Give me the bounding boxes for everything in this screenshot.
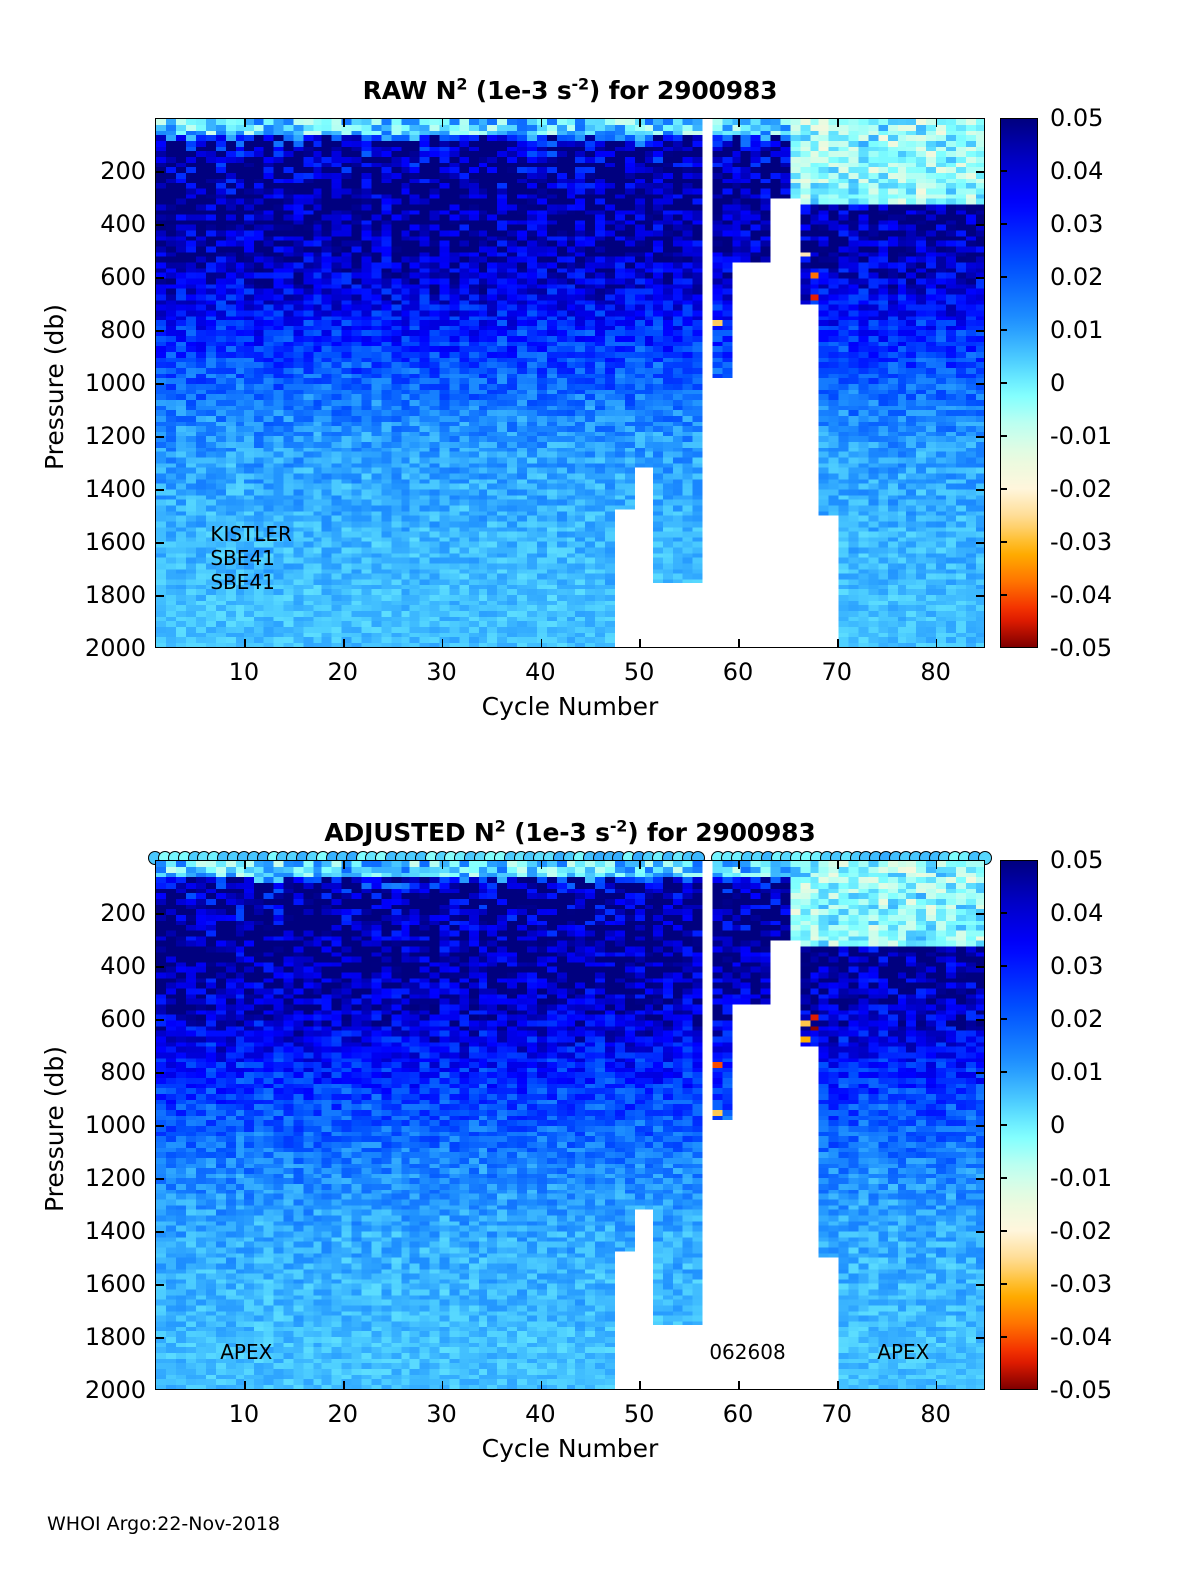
y-tick-label: 600 bbox=[66, 1005, 146, 1033]
colorbar-tick-label: 0.05 bbox=[1050, 104, 1103, 132]
colorbar-tick-label: -0.03 bbox=[1050, 528, 1112, 556]
panel-raw-title-sup2: -2 bbox=[572, 75, 589, 94]
colorbar-tick-label: 0.04 bbox=[1050, 899, 1103, 927]
panel-raw-title-prefix: RAW N bbox=[363, 76, 457, 105]
adjusted-heatmap-canvas bbox=[156, 861, 984, 1389]
panel-adjusted-title-sup2: -2 bbox=[610, 817, 627, 836]
y-tick-mark bbox=[156, 595, 164, 597]
x-tick-mark bbox=[343, 1381, 345, 1389]
x-tick-mark bbox=[541, 861, 543, 869]
plot-annotation: APEX bbox=[220, 1340, 272, 1364]
panel-adjusted-title-suffix: ) for 2900983 bbox=[627, 818, 815, 847]
colorbar-tick-label: -0.05 bbox=[1050, 634, 1112, 662]
y-tick-mark bbox=[976, 595, 984, 597]
x-tick-mark bbox=[639, 861, 641, 869]
colorbar-tick-label: -0.02 bbox=[1050, 1217, 1112, 1245]
y-tick-mark bbox=[976, 171, 984, 173]
colorbar-tick-mark bbox=[1000, 435, 1007, 437]
colorbar-tick-label: 0.01 bbox=[1050, 1058, 1103, 1086]
x-tick-label: 60 bbox=[723, 1400, 754, 1428]
y-tick-label: 1400 bbox=[66, 475, 146, 503]
panel-raw-title-mid: (1e-3 s bbox=[467, 76, 571, 105]
colorbar-tick-mark bbox=[1000, 382, 1007, 384]
panel-adjusted: ADJUSTED N2 (1e-3 s-2) for 2900983 APEX0… bbox=[0, 725, 1200, 1465]
x-tick-mark bbox=[541, 1381, 543, 1389]
x-tick-mark bbox=[936, 1381, 938, 1389]
x-tick-label: 70 bbox=[822, 1400, 853, 1428]
x-tick-mark bbox=[442, 119, 444, 127]
y-tick-mark bbox=[976, 1125, 984, 1127]
x-tick-mark bbox=[541, 639, 543, 647]
plot-annotation: KISTLER bbox=[210, 522, 292, 546]
y-tick-mark bbox=[156, 966, 164, 968]
x-tick-mark bbox=[837, 861, 839, 869]
y-tick-label: 2000 bbox=[66, 1376, 146, 1404]
y-tick-mark bbox=[976, 224, 984, 226]
plot-annotation: APEX bbox=[877, 1340, 929, 1364]
y-tick-mark bbox=[156, 1231, 164, 1233]
colorbar-tick-mark bbox=[1000, 1124, 1007, 1126]
y-tick-mark bbox=[976, 966, 984, 968]
y-tick-mark bbox=[976, 913, 984, 915]
y-tick-label: 1600 bbox=[66, 528, 146, 556]
x-tick-mark bbox=[738, 1381, 740, 1389]
y-tick-mark bbox=[156, 224, 164, 226]
y-tick-mark bbox=[976, 1072, 984, 1074]
y-tick-mark bbox=[156, 1337, 164, 1339]
x-tick-label: 30 bbox=[426, 658, 457, 686]
y-tick-mark bbox=[976, 1231, 984, 1233]
panel-raw-title: RAW N2 (1e-3 s-2) for 2900983 bbox=[155, 76, 985, 105]
figure-footer: WHOI Argo:22-Nov-2018 bbox=[47, 1513, 280, 1535]
y-tick-label: 400 bbox=[66, 952, 146, 980]
x-tick-mark bbox=[936, 639, 938, 647]
x-tick-mark bbox=[738, 119, 740, 127]
colorbar-tick-label: 0.05 bbox=[1050, 846, 1103, 874]
x-tick-label: 60 bbox=[723, 658, 754, 686]
raw-heatmap-plot[interactable]: KISTLERSBE41SBE41 bbox=[155, 118, 985, 648]
colorbar-tick-mark bbox=[1000, 488, 1007, 490]
x-tick-mark bbox=[244, 119, 246, 127]
y-tick-label: 200 bbox=[66, 899, 146, 927]
x-tick-label: 20 bbox=[327, 1400, 358, 1428]
panel-adjusted-title-sup1: 2 bbox=[495, 817, 506, 836]
colorbar-tick-label: 0.03 bbox=[1050, 952, 1103, 980]
colorbar-tick-mark bbox=[1000, 1336, 1007, 1338]
x-tick-mark bbox=[442, 861, 444, 869]
x-tick-mark bbox=[837, 639, 839, 647]
colorbar-tick-label: 0.04 bbox=[1050, 157, 1103, 185]
y-tick-label: 600 bbox=[66, 263, 146, 291]
panel-raw-title-suffix: ) for 2900983 bbox=[589, 76, 777, 105]
adjusted-x-axis-label: Cycle Number bbox=[155, 1434, 985, 1463]
y-tick-label: 800 bbox=[66, 1058, 146, 1086]
y-tick-mark bbox=[156, 1284, 164, 1286]
x-tick-mark bbox=[442, 1381, 444, 1389]
colorbar-tick-label: -0.02 bbox=[1050, 475, 1112, 503]
y-tick-label: 1800 bbox=[66, 1323, 146, 1351]
x-tick-mark bbox=[738, 639, 740, 647]
y-tick-label: 1400 bbox=[66, 1217, 146, 1245]
plot-annotation: 062608 bbox=[709, 1340, 785, 1364]
colorbar-tick-mark bbox=[1000, 541, 1007, 543]
x-tick-mark bbox=[442, 639, 444, 647]
y-tick-label: 400 bbox=[66, 210, 146, 238]
colorbar-tick-mark bbox=[1000, 965, 1007, 967]
panel-raw-title-sup1: 2 bbox=[456, 75, 467, 94]
colorbar-tick-mark bbox=[1000, 1177, 1007, 1179]
y-tick-label: 1200 bbox=[66, 422, 146, 450]
x-tick-mark bbox=[837, 1381, 839, 1389]
colorbar-tick-label: -0.03 bbox=[1050, 1270, 1112, 1298]
colorbar-tick-mark bbox=[1000, 1283, 1007, 1285]
colorbar-tick-mark bbox=[1000, 1071, 1007, 1073]
y-tick-mark bbox=[976, 277, 984, 279]
colorbar-tick-label: -0.01 bbox=[1050, 422, 1112, 450]
y-tick-label: 1800 bbox=[66, 581, 146, 609]
x-tick-label: 50 bbox=[624, 1400, 655, 1428]
y-tick-mark bbox=[976, 436, 984, 438]
y-tick-label: 1000 bbox=[66, 369, 146, 397]
y-tick-mark bbox=[156, 171, 164, 173]
x-tick-mark bbox=[936, 119, 938, 127]
colorbar-tick-label: 0 bbox=[1050, 369, 1065, 397]
adjusted-y-axis-label: Pressure (db) bbox=[40, 1046, 69, 1212]
x-tick-mark bbox=[639, 1381, 641, 1389]
x-tick-label: 70 bbox=[822, 658, 853, 686]
figure-root: RAW N2 (1e-3 s-2) for 2900983 KISTLERSBE… bbox=[0, 0, 1200, 1575]
y-tick-mark bbox=[156, 277, 164, 279]
y-tick-mark bbox=[156, 1019, 164, 1021]
x-tick-mark bbox=[343, 119, 345, 127]
y-tick-mark bbox=[976, 1178, 984, 1180]
plot-annotation: SBE41 bbox=[210, 570, 275, 594]
x-tick-mark bbox=[244, 1381, 246, 1389]
y-tick-mark bbox=[976, 330, 984, 332]
y-tick-mark bbox=[156, 436, 164, 438]
colorbar-tick-label: 0.02 bbox=[1050, 1005, 1103, 1033]
y-tick-mark bbox=[976, 1019, 984, 1021]
y-tick-mark bbox=[156, 1072, 164, 1074]
y-tick-mark bbox=[156, 542, 164, 544]
x-tick-mark bbox=[639, 119, 641, 127]
panel-raw: RAW N2 (1e-3 s-2) for 2900983 KISTLERSBE… bbox=[0, 0, 1200, 740]
y-tick-label: 1200 bbox=[66, 1164, 146, 1192]
colorbar-tick-label: -0.05 bbox=[1050, 1376, 1112, 1404]
y-tick-mark bbox=[156, 383, 164, 385]
x-tick-label: 80 bbox=[920, 658, 951, 686]
y-tick-mark bbox=[976, 542, 984, 544]
y-tick-mark bbox=[976, 1284, 984, 1286]
x-tick-mark bbox=[837, 119, 839, 127]
colorbar-tick-mark bbox=[1000, 329, 1007, 331]
raw-x-axis-label: Cycle Number bbox=[155, 692, 985, 721]
x-tick-mark bbox=[541, 119, 543, 127]
y-tick-label: 2000 bbox=[66, 634, 146, 662]
panel-adjusted-title: ADJUSTED N2 (1e-3 s-2) for 2900983 bbox=[155, 818, 985, 847]
colorbar-tick-label: 0 bbox=[1050, 1111, 1065, 1139]
x-tick-label: 30 bbox=[426, 1400, 457, 1428]
y-tick-mark bbox=[976, 383, 984, 385]
y-tick-mark bbox=[156, 489, 164, 491]
y-tick-label: 1600 bbox=[66, 1270, 146, 1298]
panel-adjusted-title-prefix: ADJUSTED N bbox=[324, 818, 494, 847]
x-tick-mark bbox=[244, 639, 246, 647]
colorbar-tick-label: 0.01 bbox=[1050, 316, 1103, 344]
y-tick-label: 800 bbox=[66, 316, 146, 344]
x-tick-mark bbox=[738, 861, 740, 869]
x-tick-label: 10 bbox=[229, 658, 260, 686]
y-tick-mark bbox=[156, 330, 164, 332]
x-tick-label: 80 bbox=[920, 1400, 951, 1428]
x-tick-mark bbox=[639, 639, 641, 647]
y-tick-mark bbox=[156, 1178, 164, 1180]
panel-adjusted-title-mid: (1e-3 s bbox=[506, 818, 610, 847]
x-tick-mark bbox=[244, 861, 246, 869]
plot-annotation: SBE41 bbox=[210, 546, 275, 570]
y-tick-label: 200 bbox=[66, 157, 146, 185]
x-tick-mark bbox=[936, 861, 938, 869]
y-tick-mark bbox=[156, 1125, 164, 1127]
x-tick-label: 50 bbox=[624, 658, 655, 686]
colorbar-tick-mark bbox=[1000, 912, 1007, 914]
x-tick-label: 40 bbox=[525, 658, 556, 686]
x-tick-label: 10 bbox=[229, 1400, 260, 1428]
x-tick-mark bbox=[343, 861, 345, 869]
colorbar-tick-label: -0.04 bbox=[1050, 1323, 1112, 1351]
adjusted-heatmap-plot[interactable]: APEX062608APEX bbox=[155, 860, 985, 1390]
colorbar-tick-mark bbox=[1000, 170, 1007, 172]
raw-y-axis-label: Pressure (db) bbox=[40, 304, 69, 470]
y-tick-mark bbox=[976, 1337, 984, 1339]
x-tick-label: 40 bbox=[525, 1400, 556, 1428]
colorbar-tick-label: -0.01 bbox=[1050, 1164, 1112, 1192]
colorbar-tick-label: 0.03 bbox=[1050, 210, 1103, 238]
x-tick-mark bbox=[343, 639, 345, 647]
y-tick-mark bbox=[976, 489, 984, 491]
y-tick-label: 1000 bbox=[66, 1111, 146, 1139]
y-tick-mark bbox=[156, 913, 164, 915]
raw-heatmap-canvas bbox=[156, 119, 984, 647]
colorbar-tick-label: -0.04 bbox=[1050, 581, 1112, 609]
colorbar-tick-label: 0.02 bbox=[1050, 263, 1103, 291]
colorbar-tick-mark bbox=[1000, 276, 1007, 278]
colorbar-tick-mark bbox=[1000, 1230, 1007, 1232]
colorbar-tick-mark bbox=[1000, 1018, 1007, 1020]
colorbar-tick-mark bbox=[1000, 223, 1007, 225]
x-tick-label: 20 bbox=[327, 658, 358, 686]
colorbar-tick-mark bbox=[1000, 594, 1007, 596]
